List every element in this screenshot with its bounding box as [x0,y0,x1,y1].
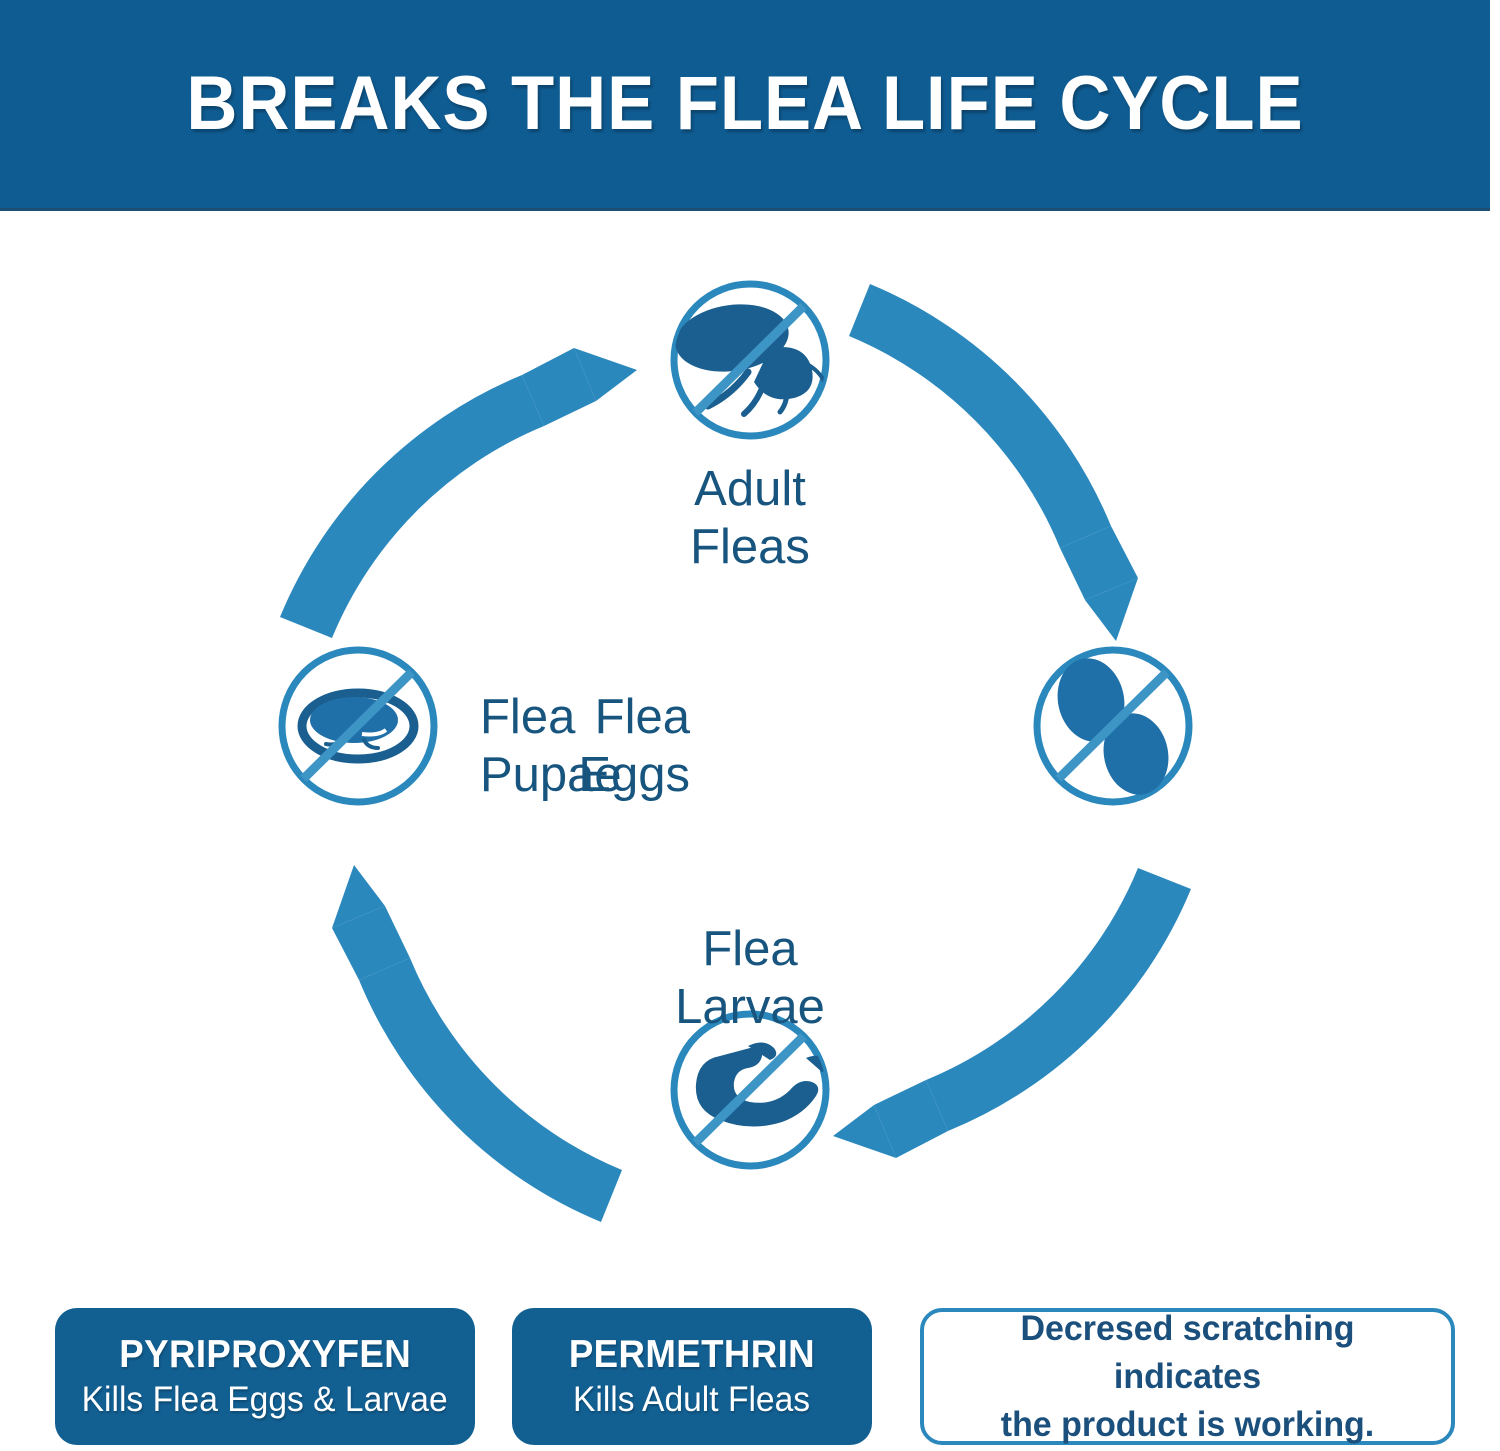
card-permethrin-title: PERMETHRIN [569,1332,815,1378]
card-efficacy-note: Decresed scratching indicates the produc… [920,1308,1455,1445]
card-permethrin-subtitle: Kills Adult Fleas [573,1378,810,1422]
flea-life-cycle-diagram: Adult Fleas Flea Eggs Flea Larvae Flea P… [250,248,1250,1258]
card-efficacy-note-text: Decresed scratching indicates the produc… [932,1305,1443,1449]
no-flea-eggs-icon [1037,650,1189,802]
card-pyriproxyfen-subtitle: Kills Flea Eggs & Larvae [82,1378,448,1422]
card-pyriproxyfen-title: PYRIPROXYFEN [119,1332,411,1378]
ingredient-cards-row: PYRIPROXYFEN Kills Flea Eggs & Larvae PE… [0,1308,1500,1451]
no-adult-flea-icon [671,284,826,436]
arrow-larvae-to-pupae [332,865,622,1222]
header-banner: BREAKS THE FLEA LIFE CYCLE [0,0,1490,211]
no-flea-larva-icon [674,1014,829,1166]
page-title: BREAKS THE FLEA LIFE CYCLE [52,62,1438,146]
card-permethrin: PERMETHRIN Kills Adult Fleas [512,1308,872,1445]
cycle-label-flea-pupae: Flea Pupae [480,688,880,804]
card-pyriproxyfen: PYRIPROXYFEN Kills Flea Eggs & Larvae [55,1308,475,1445]
cycle-label-flea-larvae: Flea Larvae [250,920,1250,1036]
cycle-label-adult-fleas: Adult Fleas [250,460,1250,576]
